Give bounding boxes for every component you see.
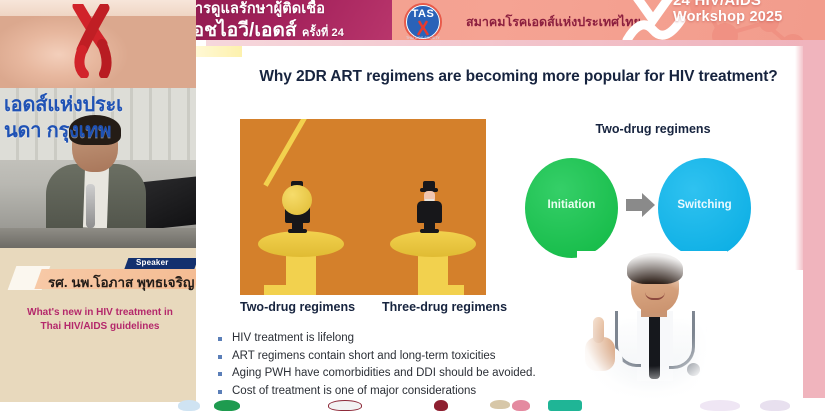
sponsor-logo-strip [0, 398, 825, 412]
slide-content-area: Why 2DR ART regimens are becoming more p… [196, 40, 825, 398]
figure-shoes-left [288, 229, 307, 233]
figure-right [414, 181, 444, 231]
tas-logo-icon: TAS THAI AIDS SOCIETY [401, 0, 445, 44]
key-tooth-right [442, 285, 464, 295]
hands-ribbon-photo [0, 0, 196, 88]
switching-node-label: Switching [658, 199, 751, 211]
sponsor-strip-sidebar-tail [0, 398, 196, 402]
bullet-marker-icon [218, 390, 222, 394]
key-top-right [390, 231, 476, 257]
bullet-marker-icon [218, 337, 222, 341]
slide-canvas: Why 2DR ART regimens are becoming more p… [196, 46, 804, 398]
slide-right-border [803, 40, 825, 398]
tas-logo-text: TAS [401, 8, 445, 20]
red-aids-ribbon-icon [56, 4, 128, 78]
bullet-text: ART regimens contain short and long-term… [232, 349, 496, 364]
key-top-left [258, 231, 344, 257]
bullet-marker-icon [218, 355, 222, 359]
slide-title: Why 2DR ART regimens are becoming more p… [246, 68, 791, 86]
speaker-tab-label: Speaker [136, 258, 169, 267]
speaker-sidebar: เอดส์แห่งประเ นดา กรุงเทพ Speaker รศ. นพ… [0, 0, 196, 412]
speaker-name: รศ. นพ.โอภาส พุทธเจริญ [48, 271, 194, 293]
video-microphone-icon [86, 184, 95, 228]
key-tooth-left [264, 285, 286, 295]
talk-title-line1: What's new in HIV treatment in [16, 306, 184, 320]
red-ribbon-icon [413, 20, 433, 36]
workshop-title-line1: 24 HIV/AIDS [673, 0, 761, 9]
sponsor-logo-6 [512, 400, 530, 411]
video-desk [0, 228, 196, 248]
bullet-item: HIV treatment is lifelong [218, 331, 618, 346]
arrow-right-icon [626, 192, 655, 218]
bullet-text: Aging PWH have comorbidities and DDI sho… [232, 366, 536, 381]
sponsor-logo-7 [548, 400, 582, 411]
sponsor-logo-2 [214, 400, 240, 411]
figure-body-right [417, 201, 442, 223]
talk-title: What's new in HIV treatment in Thai HIV/… [16, 306, 184, 334]
video-thai-overlay-line2: นดา กรุงเทพ [4, 114, 111, 146]
bullet-marker-icon [218, 372, 222, 376]
illustration-label-two-drug: Two-drug regimens [240, 300, 355, 314]
sponsor-logo-5 [490, 400, 510, 409]
regimen-illustration [240, 119, 486, 295]
diagram-heading: Two-drug regimens [548, 122, 758, 136]
header-thai-line2-main: เอชไอวี/เอดส์ [186, 20, 297, 41]
sponsor-logo-9 [760, 400, 790, 411]
bullet-text: Cost of treatment is one of major consid… [232, 384, 476, 399]
initiation-node-label: Initiation [525, 199, 618, 211]
illustration-label-three-drug: Three-drug regimens [382, 300, 507, 314]
header-thai-line2-sub: ครั้งที่ 24 [302, 27, 344, 39]
bullet-item: Aging PWH have comorbidities and DDI sho… [218, 366, 618, 381]
bullet-list: HIV treatment is lifelong ART regimens c… [218, 331, 618, 398]
talk-title-line2: Thai HIV/AIDS guidelines [16, 320, 184, 334]
figure-shoes-right [420, 229, 439, 233]
wrecking-ball-icon [282, 185, 312, 215]
sponsor-logo-4 [434, 400, 448, 411]
sponsor-logo-8 [700, 400, 740, 411]
sponsor-logo-1 [178, 400, 200, 411]
bullet-item: Cost of treatment is one of major consid… [218, 384, 618, 399]
bullet-text: HIV treatment is lifelong [232, 331, 354, 346]
association-name: สมาคมโรคเอดส์แห่งประเทศไทย [466, 12, 641, 32]
slide-yellow-accent [196, 46, 242, 57]
workshop-title-line2: Workshop 2025 [673, 9, 783, 25]
presentation-screen: การดูแลรักษาผู้ติดเชื้อ เอชไอวี/เอดส์ คร… [0, 0, 825, 412]
wrecking-ball-chain [263, 119, 310, 187]
sponsor-logo-3 [328, 400, 362, 411]
tas-logo-arc-text: THAI AIDS SOCIETY [401, 36, 445, 40]
bullet-item: ART regimens contain short and long-term… [218, 349, 618, 364]
